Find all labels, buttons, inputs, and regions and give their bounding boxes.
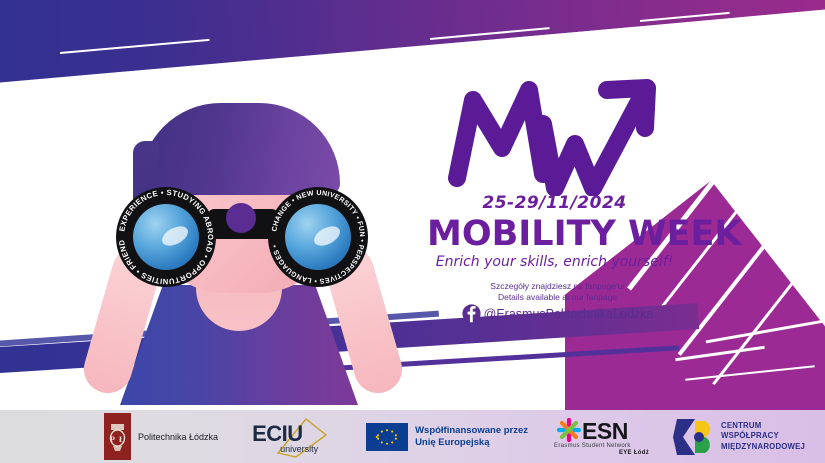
logo-label-esn: ESN xyxy=(582,418,628,445)
cwm-label-line1: CENTRUM xyxy=(721,421,805,432)
partner-logo-bar: P Ł Politechnika Łódzka ECIU university xyxy=(0,410,825,463)
svg-text:Ł: Ł xyxy=(119,435,124,444)
logo-sublabel-eciu: university xyxy=(280,444,318,454)
mw-arrow-monogram-icon xyxy=(447,78,662,196)
binoculars-icon: EXPERIENCE • STUDYING ABROAD • OPPORTUNI… xyxy=(116,187,368,287)
fanpage-info: Szczegóły znajdziesz na fanpage'u/ Detai… xyxy=(450,281,665,323)
eu-label-line1: Współfinansowane przez xyxy=(415,425,528,437)
page-title: MOBILITY WEEK xyxy=(427,214,682,254)
tagline: Enrich your skills, enrich yourself! xyxy=(427,254,682,270)
facebook-handle-row[interactable]: @ErasmusPolitechnikaLodzka xyxy=(450,304,665,323)
binoculars-focus-knob xyxy=(226,203,256,233)
lens-right-ring-text-svg: CHANGE • NEW UNIVERSITY • FUN • PERSPECT… xyxy=(268,187,368,287)
event-dates: 25-29/11/2024 xyxy=(447,193,662,213)
lens-left-ring-text: EXPERIENCE • STUDYING ABROAD • OPPORTUNI… xyxy=(116,187,215,286)
logo-label-politechnika: Politechnika Łódzka xyxy=(138,432,218,442)
fanpage-line-pl: Szczegóły znajdziesz na fanpage'u/ xyxy=(450,281,665,292)
eu-label-line2: Unię Europejską xyxy=(415,437,528,449)
logo-sublabel-esn-city: EYE Łódź xyxy=(619,450,649,456)
svg-text:EXPERIENCE • STUDYING ABROAD •: EXPERIENCE • STUDYING ABROAD • OPPORTUNI… xyxy=(116,187,215,286)
lens-right-ring-text: CHANGE • NEW UNIVERSITY • FUN • PERSPECT… xyxy=(271,190,365,284)
esn-star-icon xyxy=(556,417,582,443)
logo-european-union: Współfinansowane przez Unię Europejską xyxy=(336,423,528,451)
logo-esn: ESN Erasmus Student Network EYE Łódź xyxy=(554,414,651,459)
character-hair xyxy=(140,103,340,195)
pl-crest-icon: P Ł xyxy=(104,413,131,460)
facebook-handle[interactable]: @ErasmusPolitechnikaLodzka xyxy=(484,307,654,321)
binoculars-lens-right: CHANGE • NEW UNIVERSITY • FUN • PERSPECT… xyxy=(268,187,368,287)
eu-flag-icon xyxy=(366,423,408,451)
logo-sublabel-esn-network: Erasmus Student Network xyxy=(554,443,631,449)
eu-stars-glyph xyxy=(373,427,401,447)
mobility-week-poster: EXPERIENCE • STUDYING ABROAD • OPPORTUNI… xyxy=(0,0,825,463)
svg-text:P: P xyxy=(110,435,115,444)
cwm-label-line2: WSPÓŁPRACY xyxy=(721,431,805,442)
logo-centrum-wspolpracy: CENTRUM WSPÓŁPRACY MIĘDZYNARODOWEJ xyxy=(673,415,805,459)
logo-politechnika-lodzka: P Ł Politechnika Łódzka xyxy=(104,413,218,460)
fanpage-line-en: Details available at our fanpage xyxy=(450,292,665,303)
facebook-icon[interactable] xyxy=(462,304,481,323)
character-illustration: EXPERIENCE • STUDYING ABROAD • OPPORTUNI… xyxy=(92,95,392,395)
logo-label-eu: Współfinansowane przez Unię Europejską xyxy=(415,425,528,449)
logo-eciu: ECIU university xyxy=(248,415,336,459)
binoculars-lens-left: EXPERIENCE • STUDYING ABROAD • OPPORTUNI… xyxy=(116,187,216,287)
fan-streak xyxy=(650,46,769,198)
lens-left-ring-text-svg: EXPERIENCE • STUDYING ABROAD • OPPORTUNI… xyxy=(116,187,216,287)
cwm-label-line3: MIĘDZYNARODOWEJ xyxy=(721,442,805,453)
svg-text:CHANGE • NEW UNIVERSITY • FUN: CHANGE • NEW UNIVERSITY • FUN • PERSPECT… xyxy=(271,190,365,284)
pl-crest-glyph: P Ł xyxy=(107,418,128,456)
cwm-chevron-icon xyxy=(673,415,715,459)
logo-label-cwm: CENTRUM WSPÓŁPRACY MIĘDZYNARODOWEJ xyxy=(721,421,805,453)
